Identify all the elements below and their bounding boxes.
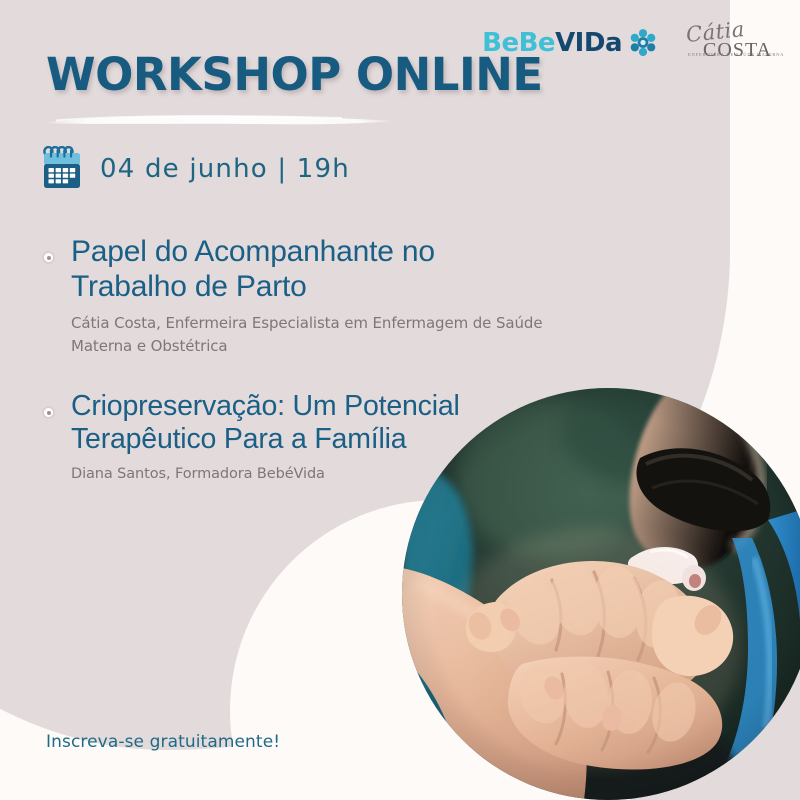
register-cta-text[interactable]: Inscreva-se gratuitamente! <box>46 732 280 752</box>
bebevida-wordmark-bebe: BeBe <box>482 28 555 58</box>
catia-costa-logo[interactable]: Cátia ENFERMEIRA DE SAÚDE MATERNA COSTA <box>684 22 772 64</box>
talk-title-line1: Papel do Acompanhante no <box>71 235 577 270</box>
talk-title-line2: Trabalho de Parto <box>71 270 577 305</box>
event-date-text: 04 de junho | 19h <box>100 154 350 184</box>
page-title: WORKSHOP ONLINE <box>46 48 543 101</box>
talk-speaker: Cátia Costa, Enfermeira Especialista em … <box>71 312 577 359</box>
list-item: Papel do Acompanhante no Trabalho de Par… <box>42 235 577 358</box>
clasped-hands-photo <box>402 388 800 800</box>
ring-bullet-icon <box>42 251 55 264</box>
calendar-icon <box>40 146 84 192</box>
poster-canvas: BeBeVIDa Cátia ENFERMEIRA DE SAÚDE MATER… <box>0 0 800 800</box>
event-date-row: 04 de junho | 19h <box>40 146 350 192</box>
logo-row: BeBeVIDa Cátia ENFERMEIRA DE SAÚDE MATER… <box>482 22 772 64</box>
catia-logo-surname: COSTA <box>703 39 772 62</box>
bebevida-wordmark-vida: VIDa <box>555 28 622 58</box>
brush-underline-icon <box>42 112 397 129</box>
bebevida-logo[interactable]: BeBeVIDa <box>482 28 658 58</box>
bebevida-wordmark: BeBeVIDa <box>482 30 622 56</box>
clasped-hands-photo-illustration <box>402 388 800 800</box>
talk-body: Papel do Acompanhante no Trabalho de Par… <box>71 235 577 358</box>
talk-title: Papel do Acompanhante no Trabalho de Par… <box>71 235 577 305</box>
ring-bullet-icon <box>42 406 55 419</box>
cell-cluster-icon <box>628 28 658 58</box>
